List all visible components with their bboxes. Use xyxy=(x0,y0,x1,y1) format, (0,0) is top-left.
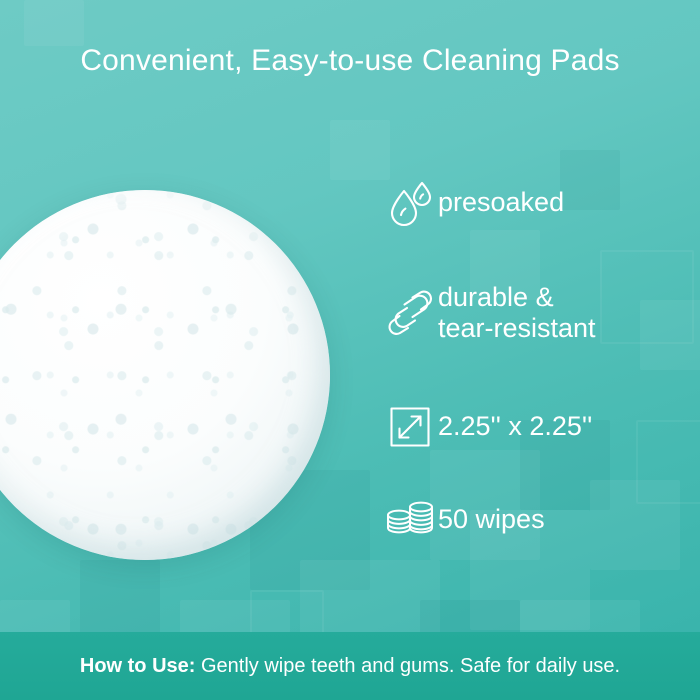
feature-row-presoaked: presoaked xyxy=(382,160,682,246)
feature-label-count: 50 wipes xyxy=(438,504,545,535)
cotton-pad-circle xyxy=(0,190,330,560)
page-title: Convenient, Easy-to-use Cleaning Pads xyxy=(0,44,700,78)
chain-link-icon xyxy=(382,290,438,336)
product-image xyxy=(0,190,330,560)
feature-row-count: 50 wipes xyxy=(382,482,682,558)
how-to-use-footer: How to Use: Gently wipe teeth and gums. … xyxy=(0,632,700,700)
feature-label-durable-line1: durable & xyxy=(438,282,596,313)
how-to-use-body: Gently wipe teeth and gums. Safe for dai… xyxy=(195,655,620,677)
feature-row-durable: durable & tear-resistant xyxy=(382,254,682,372)
stacked-discs-icon xyxy=(382,498,438,542)
feature-list: presoaked durable & tear-resistant xyxy=(382,160,682,566)
feature-label-durable: durable & tear-resistant xyxy=(438,282,596,345)
feature-row-dimensions: 2.25'' x 2.25'' xyxy=(382,380,682,474)
feature-label-presoaked: presoaked xyxy=(438,187,564,218)
square-diagonal-arrows-icon xyxy=(382,406,438,448)
how-to-use-heading: How to Use: xyxy=(80,655,196,677)
how-to-use-text: How to Use: Gently wipe teeth and gums. … xyxy=(80,655,620,678)
water-droplets-icon xyxy=(382,179,438,227)
feature-label-durable-line2: tear-resistant xyxy=(438,313,596,344)
feature-label-dimensions: 2.25'' x 2.25'' xyxy=(438,411,592,442)
product-infographic: Convenient, Easy-to-use Cleaning Pads pr… xyxy=(0,0,700,700)
